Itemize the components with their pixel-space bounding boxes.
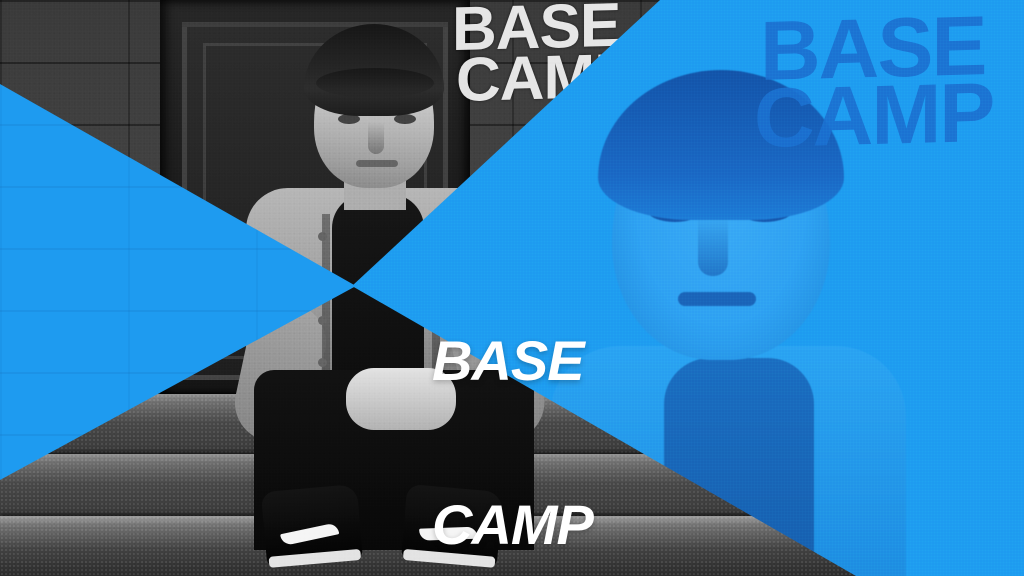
programme-artwork: BASE CAMP bbox=[0, 0, 1024, 576]
programme-title: BASE CAMP bbox=[432, 224, 593, 576]
programme-title-line-2: CAMP bbox=[432, 498, 593, 553]
programme-title-line-1: BASE bbox=[432, 334, 593, 389]
